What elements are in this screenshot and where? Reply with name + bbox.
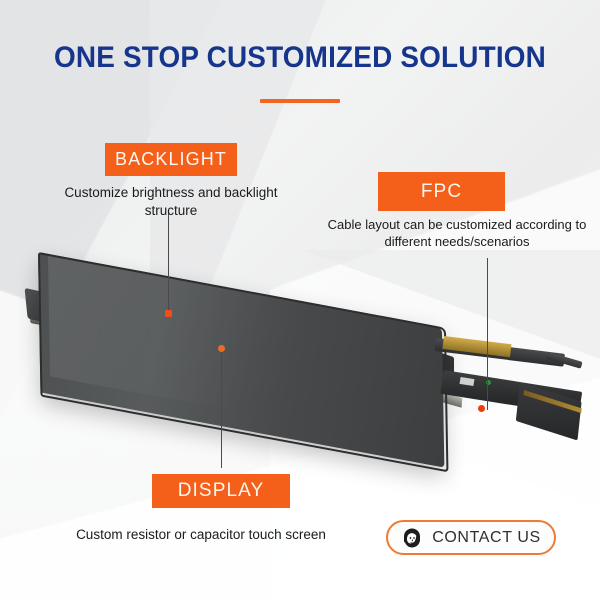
callout-marker-display	[218, 345, 225, 352]
callout-marker-backlight	[165, 310, 172, 317]
label-chip-fpc: FPC	[378, 172, 505, 211]
label-chip-backlight: BACKLIGHT	[105, 143, 237, 176]
contact-us-label: CONTACT US	[432, 529, 541, 547]
caption-fpc: Cable layout can be customized according…	[324, 216, 590, 250]
caption-backlight: Customize brightness and backlight struc…	[60, 184, 282, 220]
product-image-lcd-module	[0, 230, 600, 480]
contact-us-button[interactable]: CONTACT US	[386, 520, 556, 555]
callout-line-display	[221, 350, 222, 468]
page-title: ONE STOP CUSTOMIZED SOLUTION	[21, 41, 579, 75]
callout-marker-fpc	[478, 405, 485, 412]
panel-glass-bezel	[38, 252, 448, 472]
poster-canvas: ONE STOP CUSTOMIZED SOLUTION BACKLIGHT F…	[0, 0, 600, 600]
title-underline-divider	[260, 99, 340, 103]
callout-line-backlight	[168, 212, 169, 314]
support-agent-headset-icon	[401, 527, 423, 549]
caption-display: Custom resistor or capacitor touch scree…	[45, 526, 357, 544]
callout-line-fpc	[487, 258, 488, 410]
label-chip-display: DISPLAY	[152, 474, 290, 508]
